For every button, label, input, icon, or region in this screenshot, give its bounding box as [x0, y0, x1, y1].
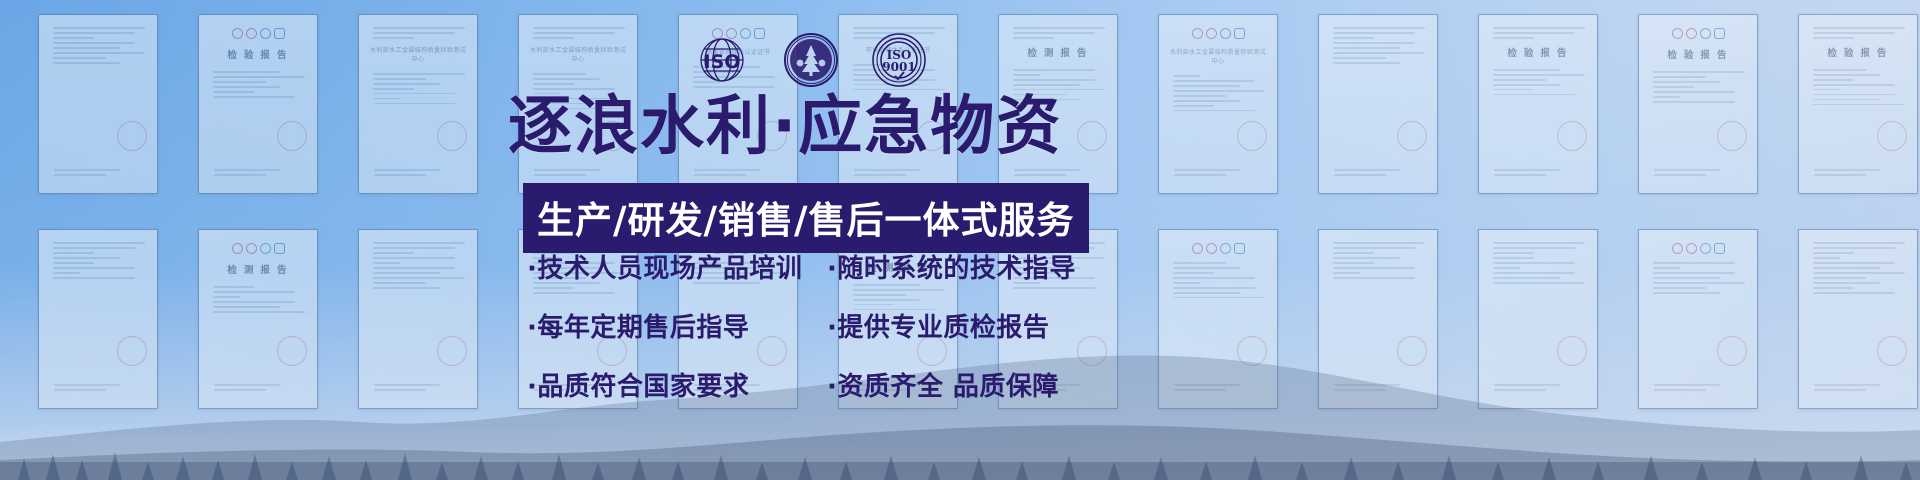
- certificate-thumbnail: 水利部水工金属结构质量检验测试中心: [358, 14, 478, 194]
- banner-headline: 逐浪水利·应急物资: [508, 95, 1062, 159]
- certificate-signature-block: [368, 381, 468, 394]
- certificate-signature-block: [848, 166, 948, 179]
- certificate-signature-block: [48, 166, 148, 179]
- ccc-logo-icon: [1206, 243, 1217, 254]
- certificate-title: 检 测 报 告: [207, 262, 309, 276]
- certificate-signature-block: [1008, 166, 1108, 179]
- cma-logo-icon: [274, 28, 285, 39]
- red-seal-stamp: [277, 336, 307, 366]
- red-seal-stamp: [1397, 336, 1427, 366]
- certificate-signature-block: [1168, 166, 1268, 179]
- bullet-item: ·每年定期售后指导: [527, 307, 809, 344]
- certificate-logo-row: [1647, 243, 1749, 254]
- certificate-thumbnail: [1798, 229, 1918, 409]
- certificate-signature-block: [1168, 381, 1268, 394]
- certificate-thumbnail: [38, 14, 158, 194]
- cma-logo-icon: [1714, 243, 1725, 254]
- red-seal-stamp: [277, 121, 307, 151]
- cqc-logo-icon: [1672, 243, 1683, 254]
- certificate-subtitle: 水利部水工金属结构质量检验测试中心: [1167, 47, 1269, 65]
- certificate-thumbnail: 检 测 报 告: [198, 229, 318, 409]
- ccc-logo-icon: [1206, 28, 1217, 39]
- ccc-logo-icon: [246, 243, 257, 254]
- banner-subtitle-bar: 生产/研发/销售/售后一体式服务: [523, 183, 1089, 253]
- certificate-signature-block: [1488, 381, 1588, 394]
- red-seal-stamp: [117, 121, 147, 151]
- certificate-signature-block: [1488, 166, 1588, 179]
- red-seal-stamp: [1717, 121, 1747, 151]
- iso9001-badge: ISO 9001 ISO 9001: [871, 32, 927, 88]
- cnas-logo-icon: [260, 28, 271, 39]
- certificate-logo-row: [1167, 243, 1269, 254]
- cnas-logo-icon: [260, 243, 271, 254]
- certificate-thumbnail: [1318, 229, 1438, 409]
- ccc-logo-icon: [246, 28, 257, 39]
- iso14000-badge: ISO14000 环境管理体系认证: [783, 32, 839, 88]
- certificate-logo-row: [1647, 28, 1749, 39]
- certificate-thumbnail: [1638, 229, 1758, 409]
- certificate-title: 检 测 报 告: [1007, 45, 1109, 59]
- red-seal-stamp: [1877, 121, 1907, 151]
- certificate-signature-block: [208, 166, 308, 179]
- svg-text:9001: 9001: [882, 60, 915, 74]
- certificate-signature-block: [1648, 166, 1748, 179]
- certificate-signature-block: [208, 381, 308, 394]
- cnas-logo-icon: [1700, 243, 1711, 254]
- certificate-signature-block: [368, 166, 468, 179]
- certificate-signature-block: [1328, 166, 1428, 179]
- ccc-logo-icon: [1686, 243, 1697, 254]
- cqc-logo-icon: [1672, 28, 1683, 39]
- bullet-item: ·资质齐全 品质保障: [827, 366, 1076, 403]
- certificate-logo-row: [207, 243, 309, 254]
- certificate-thumbnail: [358, 229, 478, 409]
- certificate-signature-block: [528, 166, 628, 179]
- certificate-thumbnail: [1318, 14, 1438, 194]
- certificate-thumbnail: 检 验 报 告: [198, 14, 318, 194]
- certificate-signature-block: [1808, 381, 1908, 394]
- certificate-thumbnail: [1478, 229, 1598, 409]
- red-seal-stamp: [1557, 121, 1587, 151]
- cma-logo-icon: [1234, 28, 1245, 39]
- cnas-logo-icon: [1220, 28, 1231, 39]
- certificate-thumbnail: 检 验 报 告: [1798, 14, 1918, 194]
- certificate-title: 检 验 报 告: [1647, 47, 1749, 61]
- certificate-subtitle: 水利部水工金属结构质量检验测试中心: [367, 45, 469, 63]
- certificate-thumbnail: 水利部水工金属结构质量检验测试中心: [1158, 14, 1278, 194]
- red-seal-stamp: [117, 336, 147, 366]
- red-seal-stamp: [1877, 336, 1907, 366]
- cnas-logo-icon: [1220, 243, 1231, 254]
- ccc-logo-icon: [1686, 28, 1697, 39]
- iso-globe-label: ISO: [704, 51, 741, 73]
- bullet-item: ·品质符合国家要求: [527, 366, 809, 403]
- red-seal-stamp: [1077, 121, 1107, 151]
- feature-bullet-list: ·技术人员现场产品培训 ·随时系统的技术指导 ·每年定期售后指导 ·提供专业质检…: [527, 248, 1076, 403]
- certificate-thumbnail: 检 验 报 告: [1638, 14, 1758, 194]
- cnas-logo-icon: [1700, 28, 1711, 39]
- bullet-item: ·提供专业质检报告: [827, 307, 1076, 344]
- promo-banner: 检 验 报 告水利部水工金属结构质量检验测试中心水利部水工金属结构质量检验测试中…: [0, 0, 1920, 480]
- certificate-signature-block: [1648, 381, 1748, 394]
- certificate-subtitle: 水利部水工金属结构质量检验测试中心: [527, 45, 629, 63]
- bullet-item: ·技术人员现场产品培训: [527, 248, 809, 285]
- cma-logo-icon: [1714, 28, 1725, 39]
- cqc-logo-icon: [232, 28, 243, 39]
- red-seal-stamp: [1077, 336, 1107, 366]
- certificate-title: 检 验 报 告: [1487, 45, 1589, 59]
- red-seal-stamp: [437, 336, 467, 366]
- red-seal-stamp: [1557, 336, 1587, 366]
- cma-logo-icon: [1234, 243, 1245, 254]
- certificate-signature-block: [1328, 381, 1428, 394]
- certificate-signature-block: [48, 381, 148, 394]
- certificate-title: 检 验 报 告: [1807, 45, 1909, 59]
- certificate-logo-row: [1167, 28, 1269, 39]
- iso-globe-badge: ISO: [693, 35, 751, 85]
- certificate-thumbnail: [38, 229, 158, 409]
- certificate-title: 检 验 报 告: [207, 47, 309, 61]
- red-seal-stamp: [1717, 336, 1747, 366]
- certificate-logo-row: [207, 28, 309, 39]
- certificate-thumbnail: [1158, 229, 1278, 409]
- red-seal-stamp: [1237, 336, 1267, 366]
- bullet-item: ·随时系统的技术指导: [827, 248, 1076, 285]
- certificate-thumbnail: 检 验 报 告: [1478, 14, 1598, 194]
- certificate-signature-block: [1808, 166, 1908, 179]
- red-seal-stamp: [437, 121, 467, 151]
- red-seal-stamp: [1237, 121, 1267, 151]
- cqc-logo-icon: [1192, 243, 1203, 254]
- red-seal-stamp: [1397, 121, 1427, 151]
- cma-logo-icon: [274, 243, 285, 254]
- certificate-signature-block: [688, 166, 788, 179]
- cqc-logo-icon: [232, 243, 243, 254]
- cqc-logo-icon: [1192, 28, 1203, 39]
- certification-badge-row: ISO ISO14000 环境管理体系认证: [693, 32, 927, 88]
